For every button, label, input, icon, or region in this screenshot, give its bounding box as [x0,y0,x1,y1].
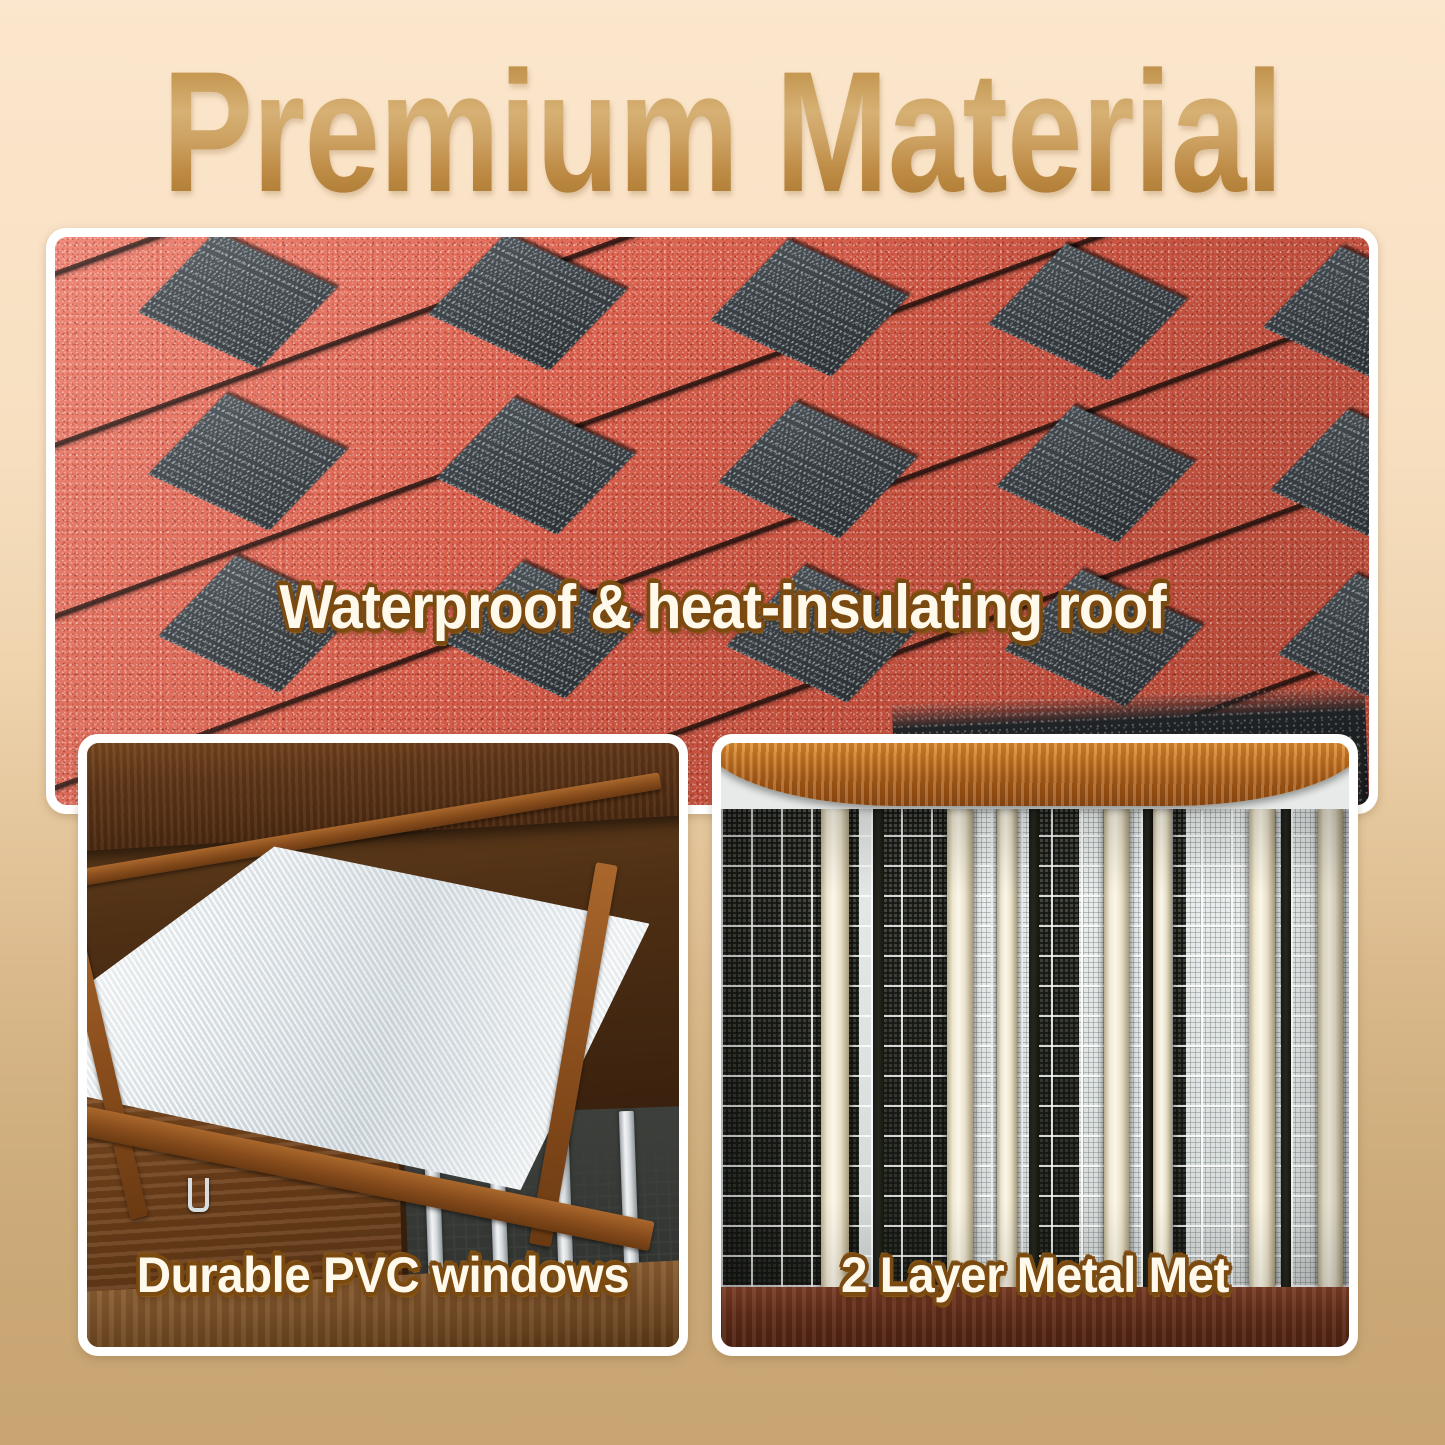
caption-pvc-window: Durable PVC windows [93,1246,673,1304]
hutch-latch-hook [188,1178,209,1212]
caption-metal-mesh: 2 Layer Metal Met [728,1246,1342,1304]
page-title: Premium Material [152,48,1294,216]
product-feature-poster: Premium Material Waterproof & hea [0,0,1445,1445]
mesh-edge-shading [721,809,1349,1286]
feature-card-roof [46,228,1378,814]
caption-roof: Waterproof & heat-insulating roof [51,572,1395,643]
roof-light-shading [55,237,1369,805]
mesh-top-wood-rail [721,743,1349,806]
red-asphalt-shingle-roof-photo [55,237,1369,805]
mesh-field [721,809,1349,1286]
